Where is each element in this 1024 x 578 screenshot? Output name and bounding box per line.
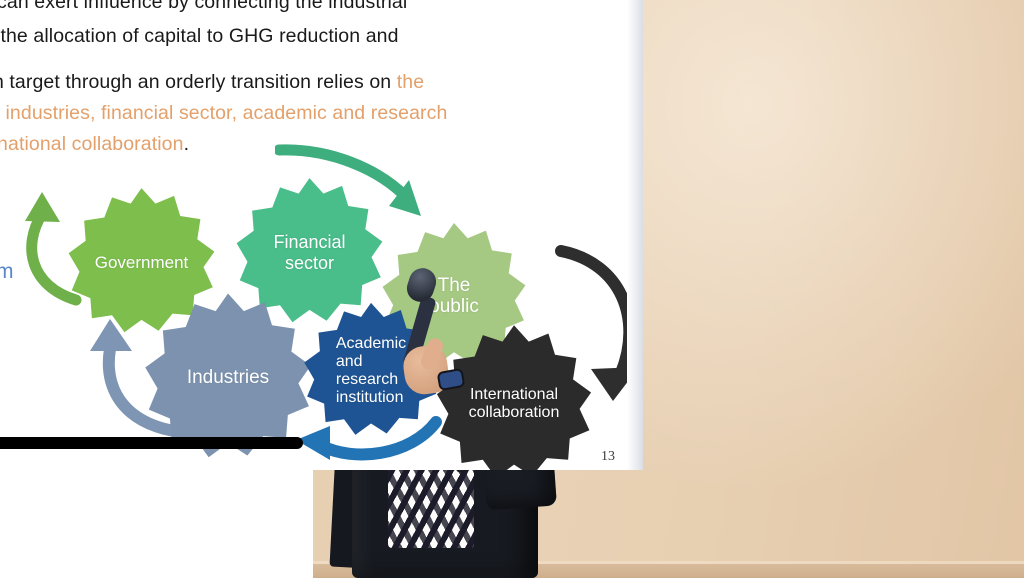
slide-line-2: g the allocation of capital to GHG reduc… [0, 18, 399, 55]
screenshot-root: t can exert influence by connecting the … [0, 0, 1024, 578]
slide-black-bar [0, 437, 303, 449]
slide-right-edge [627, 0, 643, 470]
gear-label-academic-research: Academicandresearchinstitution [328, 335, 414, 407]
gear-label-industries: Industries [183, 367, 273, 388]
slide-line-3-highlight: the [397, 71, 424, 93]
gear-international-collaboration[interactable]: Internationalcollaboration [432, 322, 596, 470]
presentation-slide: t can exert influence by connecting the … [0, 0, 643, 470]
gear-label-international-collaboration: Internationalcollaboration [461, 386, 568, 422]
gear-label-government: Government [91, 253, 193, 272]
slide-page-number: 13 [601, 449, 615, 465]
gear-label-financial-sector: Financialsector [265, 232, 353, 272]
stakeholder-gear-diagram: Thepublic Government Financialsector Int… [0, 150, 643, 450]
slide-line-3-plain: on target through an orderly transition … [0, 71, 397, 93]
